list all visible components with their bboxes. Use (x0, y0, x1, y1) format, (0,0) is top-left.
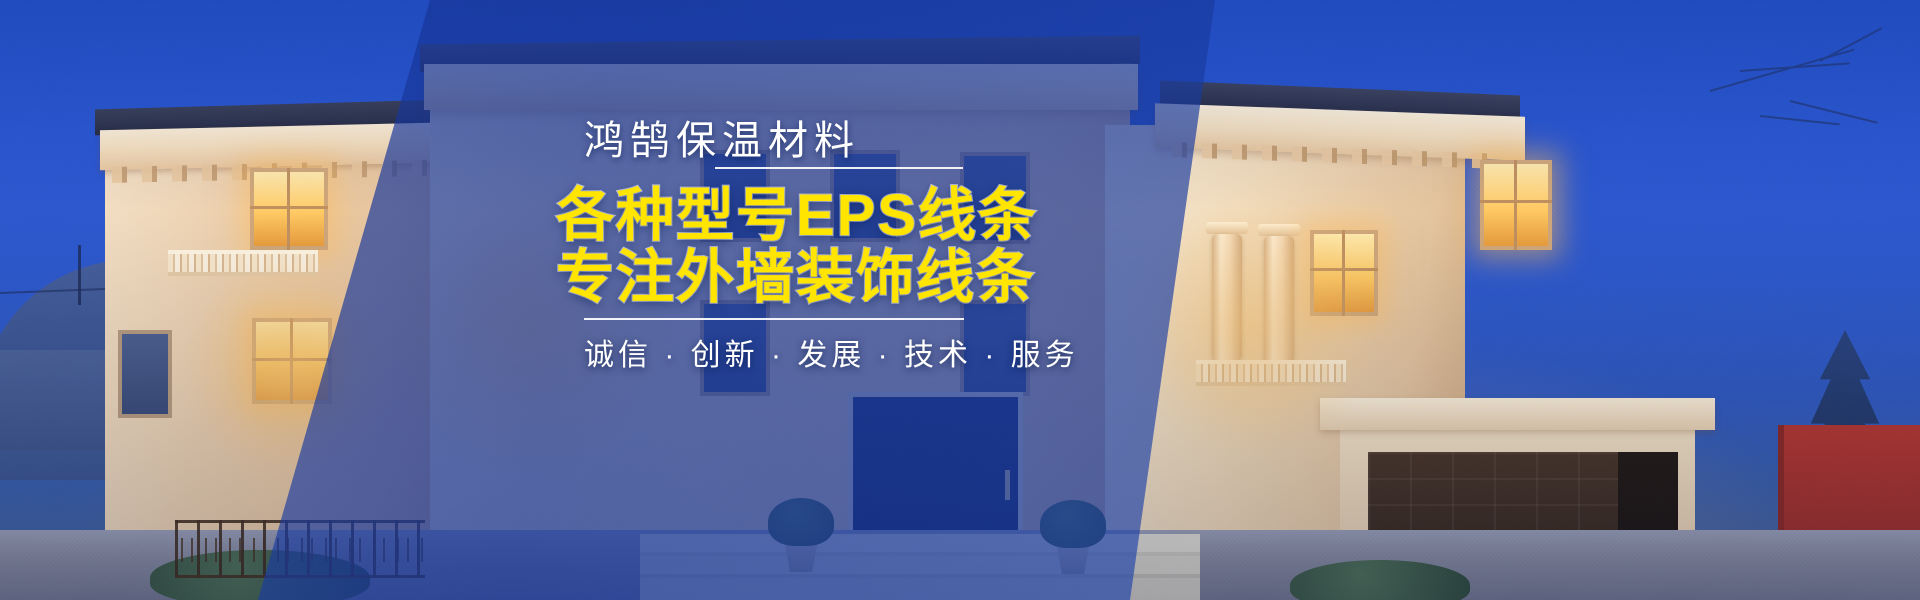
shrub-left (768, 498, 834, 546)
antenna-mast (78, 245, 81, 305)
door-handle (1005, 470, 1010, 500)
divider-bottom (584, 318, 964, 320)
company-name: 鸿鹄保温材料 (584, 108, 860, 166)
promo-banner: 鸿鹄保温材料 各种型号EPS线条 专注外墙装饰线条 诚信 · 创新 · 发展 ·… (0, 0, 1920, 600)
iron-railing-pattern (175, 538, 425, 562)
entry-steps (640, 534, 1200, 600)
tagline: 诚信 · 创新 · 发展 · 技术 · 服务 (584, 330, 1079, 374)
balustrade-right (1196, 360, 1346, 386)
balustrade-left (168, 250, 318, 276)
shrub-right (1040, 500, 1106, 548)
garage-lintel (1320, 398, 1715, 430)
headline-line-1: 各种型号EPS线条 (556, 186, 1038, 246)
headline-line-2: 专注外墙装饰线条 (556, 248, 1036, 308)
column-r1 (1212, 234, 1242, 360)
column-r2 (1264, 236, 1294, 362)
bare-tree (1700, 0, 1920, 180)
center-cornice (424, 64, 1138, 110)
window-left-low (118, 330, 172, 418)
divider-top (715, 167, 963, 169)
